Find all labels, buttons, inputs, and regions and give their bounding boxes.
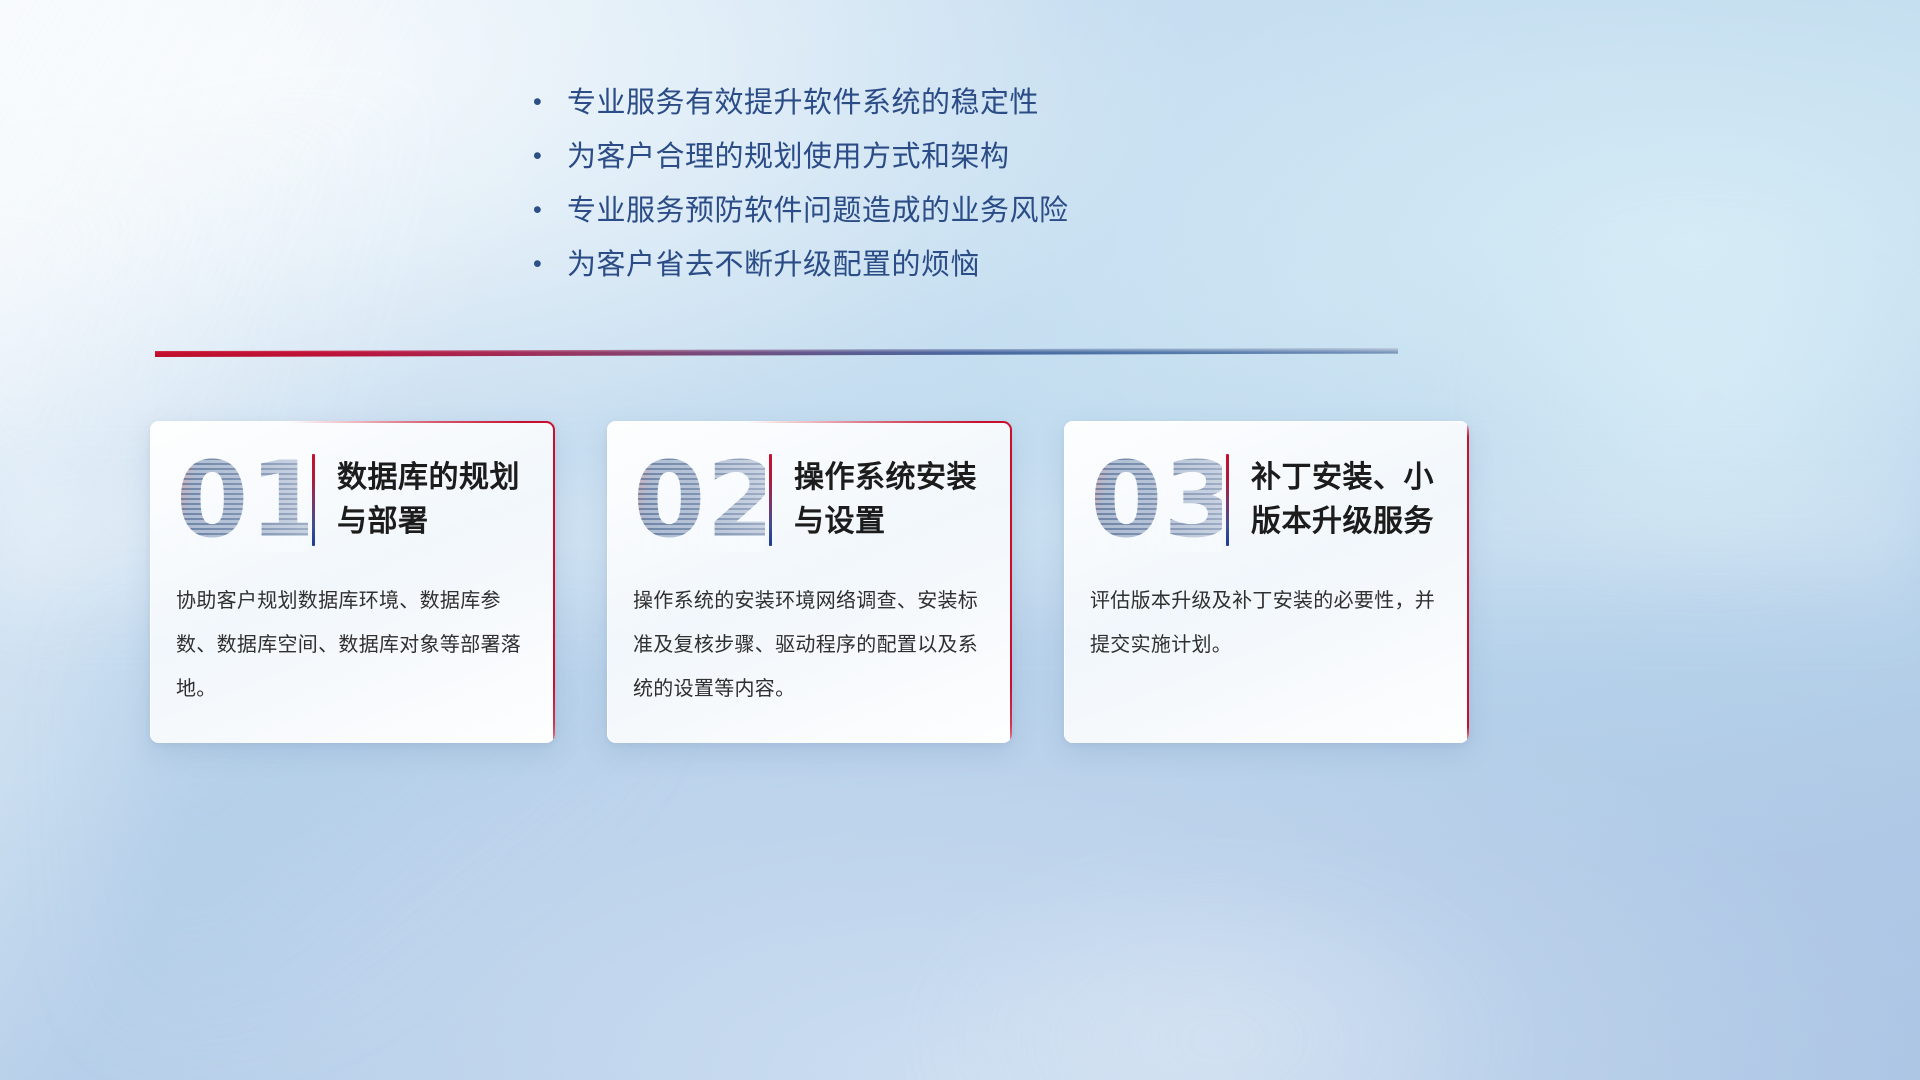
bullet-marker-icon: • <box>533 144 567 169</box>
card-title: 补丁安装、小版本升级服务 <box>1251 456 1469 544</box>
slide-canvas: • 专业服务有效提升软件系统的稳定性 • 为客户合理的规划使用方式和架构 • 专… <box>0 0 1920 1080</box>
bullet-item-label: 专业服务预防软件问题造成的业务风险 <box>567 194 1069 228</box>
card-number-badge: 02 <box>633 448 765 552</box>
bullet-item-label: 专业服务有效提升软件系统的稳定性 <box>567 86 1039 120</box>
card-header: 03 补丁安装、小版本升级服务 <box>1064 421 1469 579</box>
card-body-text: 协助客户规划数据库环境、数据库参数、数据库空间、数据库对象等部署落地。 <box>150 579 555 711</box>
service-card-01[interactable]: 01 数据库的规划与部署 协助客户规划数据库环境、数据库参数、数据库空间、数据库… <box>150 421 555 743</box>
card-body-text: 操作系统的安装环境网络调查、安装标准及复核步骤、驱动程序的配置以及系统的设置等内… <box>607 579 1012 711</box>
card-body-text: 评估版本升级及补丁安装的必要性，并提交实施计划。 <box>1064 579 1469 667</box>
gradient-divider-sheen <box>155 348 1398 357</box>
card-title: 操作系统安装与设置 <box>794 456 1012 544</box>
bullet-item: • 为客户合理的规划使用方式和架构 <box>533 140 1433 174</box>
card-title: 数据库的规划与部署 <box>337 456 555 544</box>
card-number-badge: 03 <box>1090 448 1222 552</box>
bullet-marker-icon: • <box>533 90 567 115</box>
card-number-badge: 01 <box>176 448 308 552</box>
bullet-item: • 专业服务有效提升软件系统的稳定性 <box>533 86 1433 120</box>
background-light-streak-d <box>768 780 1668 1080</box>
bullet-item-label: 为客户合理的规划使用方式和架构 <box>567 140 1010 174</box>
bullet-list: • 专业服务有效提升软件系统的稳定性 • 为客户合理的规划使用方式和架构 • 专… <box>533 86 1433 282</box>
bullet-item: • 专业服务预防软件问题造成的业务风险 <box>533 194 1433 228</box>
bullet-item-label: 为客户省去不断升级配置的烦恼 <box>567 248 980 282</box>
card-header: 01 数据库的规划与部署 <box>150 421 555 579</box>
card-header: 02 操作系统安装与设置 <box>607 421 1012 579</box>
gradient-divider <box>155 348 1398 357</box>
bullet-item: • 为客户省去不断升级配置的烦恼 <box>533 248 1433 282</box>
bullet-marker-icon: • <box>533 198 567 223</box>
service-card-03[interactable]: 03 补丁安装、小版本升级服务 评估版本升级及补丁安装的必要性，并提交实施计划。 <box>1064 421 1469 743</box>
card-row: 01 数据库的规划与部署 协助客户规划数据库环境、数据库参数、数据库空间、数据库… <box>150 421 1470 743</box>
service-card-02[interactable]: 02 操作系统安装与设置 操作系统的安装环境网络调查、安装标准及复核步骤、驱动程… <box>607 421 1012 743</box>
background-light-streak-a <box>0 0 615 470</box>
bullet-marker-icon: • <box>533 252 567 277</box>
